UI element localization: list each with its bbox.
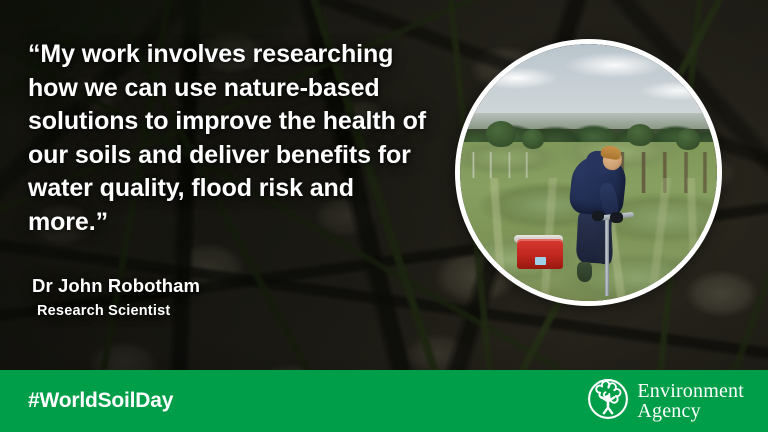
logo-line-1: Environment	[637, 380, 744, 402]
logo-line-2: Agency	[637, 401, 744, 421]
hashtag-label: #WorldSoilDay	[28, 389, 173, 413]
environment-agency-logo: Environment Agency	[587, 378, 744, 425]
portrait-photo	[455, 39, 722, 306]
photo-vignette	[460, 44, 717, 301]
world-soil-day-graphic: “My work involves researching how we can…	[0, 0, 768, 432]
bottom-banner: #WorldSoilDay	[0, 370, 768, 432]
attribution-name: Dr John Robotham	[32, 275, 200, 297]
environment-agency-wordmark: Environment Agency	[637, 381, 744, 421]
quote-text: “My work involves researching how we can…	[28, 38, 440, 239]
portrait-photo-inner	[460, 44, 717, 301]
environment-agency-roundel-icon	[587, 378, 629, 425]
attribution-role: Research Scientist	[37, 303, 170, 319]
